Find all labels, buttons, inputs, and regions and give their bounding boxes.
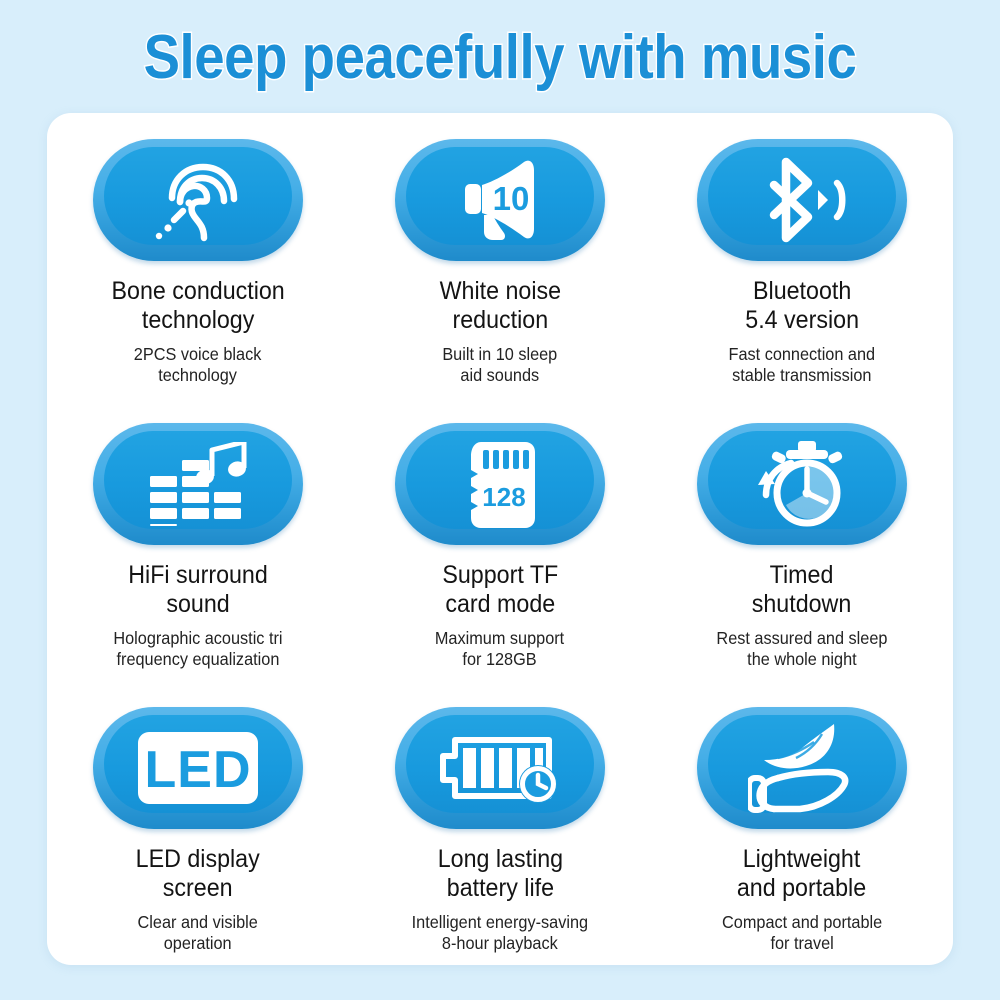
feature-subtitle: Holographic acoustic tri frequency equal… xyxy=(113,628,282,670)
feature-title: White noise reduction xyxy=(439,277,560,335)
feature-tile: 128 xyxy=(395,423,605,545)
feature-subtitle: Compact and portable for travel xyxy=(722,912,882,954)
feature-title: Bluetooth 5.4 version xyxy=(745,277,859,335)
feature-tile xyxy=(697,139,907,261)
feature-title: Timed shutdown xyxy=(752,561,852,619)
feature-tile xyxy=(697,423,907,545)
features-grid: Bone conduction technology 2PCS voice bl… xyxy=(47,113,953,965)
page-title: Sleep peacefully with music xyxy=(60,20,940,96)
feature-led-display: LED LED display screen Clear and visible… xyxy=(47,681,349,965)
feature-title: HiFi surround sound xyxy=(128,561,268,619)
bluetooth-signal-icon xyxy=(708,151,896,249)
feature-battery-life: Long lasting battery life Intelligent en… xyxy=(349,681,651,965)
feature-tile: 10 xyxy=(395,139,605,261)
feature-tile xyxy=(93,423,303,545)
ear-soundwave-icon xyxy=(104,151,292,249)
feature-title: LED display screen xyxy=(136,845,260,903)
feature-tile xyxy=(93,139,303,261)
feather-hand-icon xyxy=(708,719,896,817)
feature-subtitle: Intelligent energy-saving 8-hour playbac… xyxy=(412,912,588,954)
megaphone-10-icon: 10 xyxy=(406,151,594,249)
sd-card-capacity-text: 128 xyxy=(482,482,525,512)
equalizer-music-note-icon xyxy=(104,435,292,533)
feature-subtitle: Maximum support for 128GB xyxy=(435,628,564,670)
battery-clock-icon xyxy=(406,719,594,817)
feature-subtitle: 2PCS voice black technology xyxy=(134,344,262,386)
feature-bluetooth: Bluetooth 5.4 version Fast connection an… xyxy=(651,113,953,397)
feature-tf-card: 128 Support TF card mode Maximum support… xyxy=(349,397,651,681)
feature-subtitle: Fast connection and stable transmission xyxy=(729,344,876,386)
feature-lightweight: Lightweight and portable Compact and por… xyxy=(651,681,953,965)
megaphone-badge-text: 10 xyxy=(493,180,530,217)
feature-tile xyxy=(697,707,907,829)
features-card: Bone conduction technology 2PCS voice bl… xyxy=(47,113,953,965)
feature-bone-conduction: Bone conduction technology 2PCS voice bl… xyxy=(47,113,349,397)
feature-title: Bone conduction technology xyxy=(111,277,284,335)
feature-title: Long lasting battery life xyxy=(437,845,562,903)
feature-title: Lightweight and portable xyxy=(737,845,866,903)
feature-timed-shutdown: Timed shutdown Rest assured and sleep th… xyxy=(651,397,953,681)
led-screen-text: LED xyxy=(145,741,252,799)
feature-title: Support TF card mode xyxy=(442,561,558,619)
stopwatch-timer-icon xyxy=(708,435,896,533)
feature-subtitle: Built in 10 sleep aid sounds xyxy=(443,344,558,386)
feature-hifi-sound: HiFi surround sound Holographic acoustic… xyxy=(47,397,349,681)
feature-tile: LED xyxy=(93,707,303,829)
microsd-card-icon: 128 xyxy=(406,435,594,533)
feature-subtitle: Rest assured and sleep the whole night xyxy=(716,628,887,670)
feature-tile xyxy=(395,707,605,829)
feature-subtitle: Clear and visible operation xyxy=(138,912,258,954)
led-screen-icon: LED xyxy=(104,719,292,817)
feature-white-noise: 10 White noise reduction Built in 10 sle… xyxy=(349,113,651,397)
